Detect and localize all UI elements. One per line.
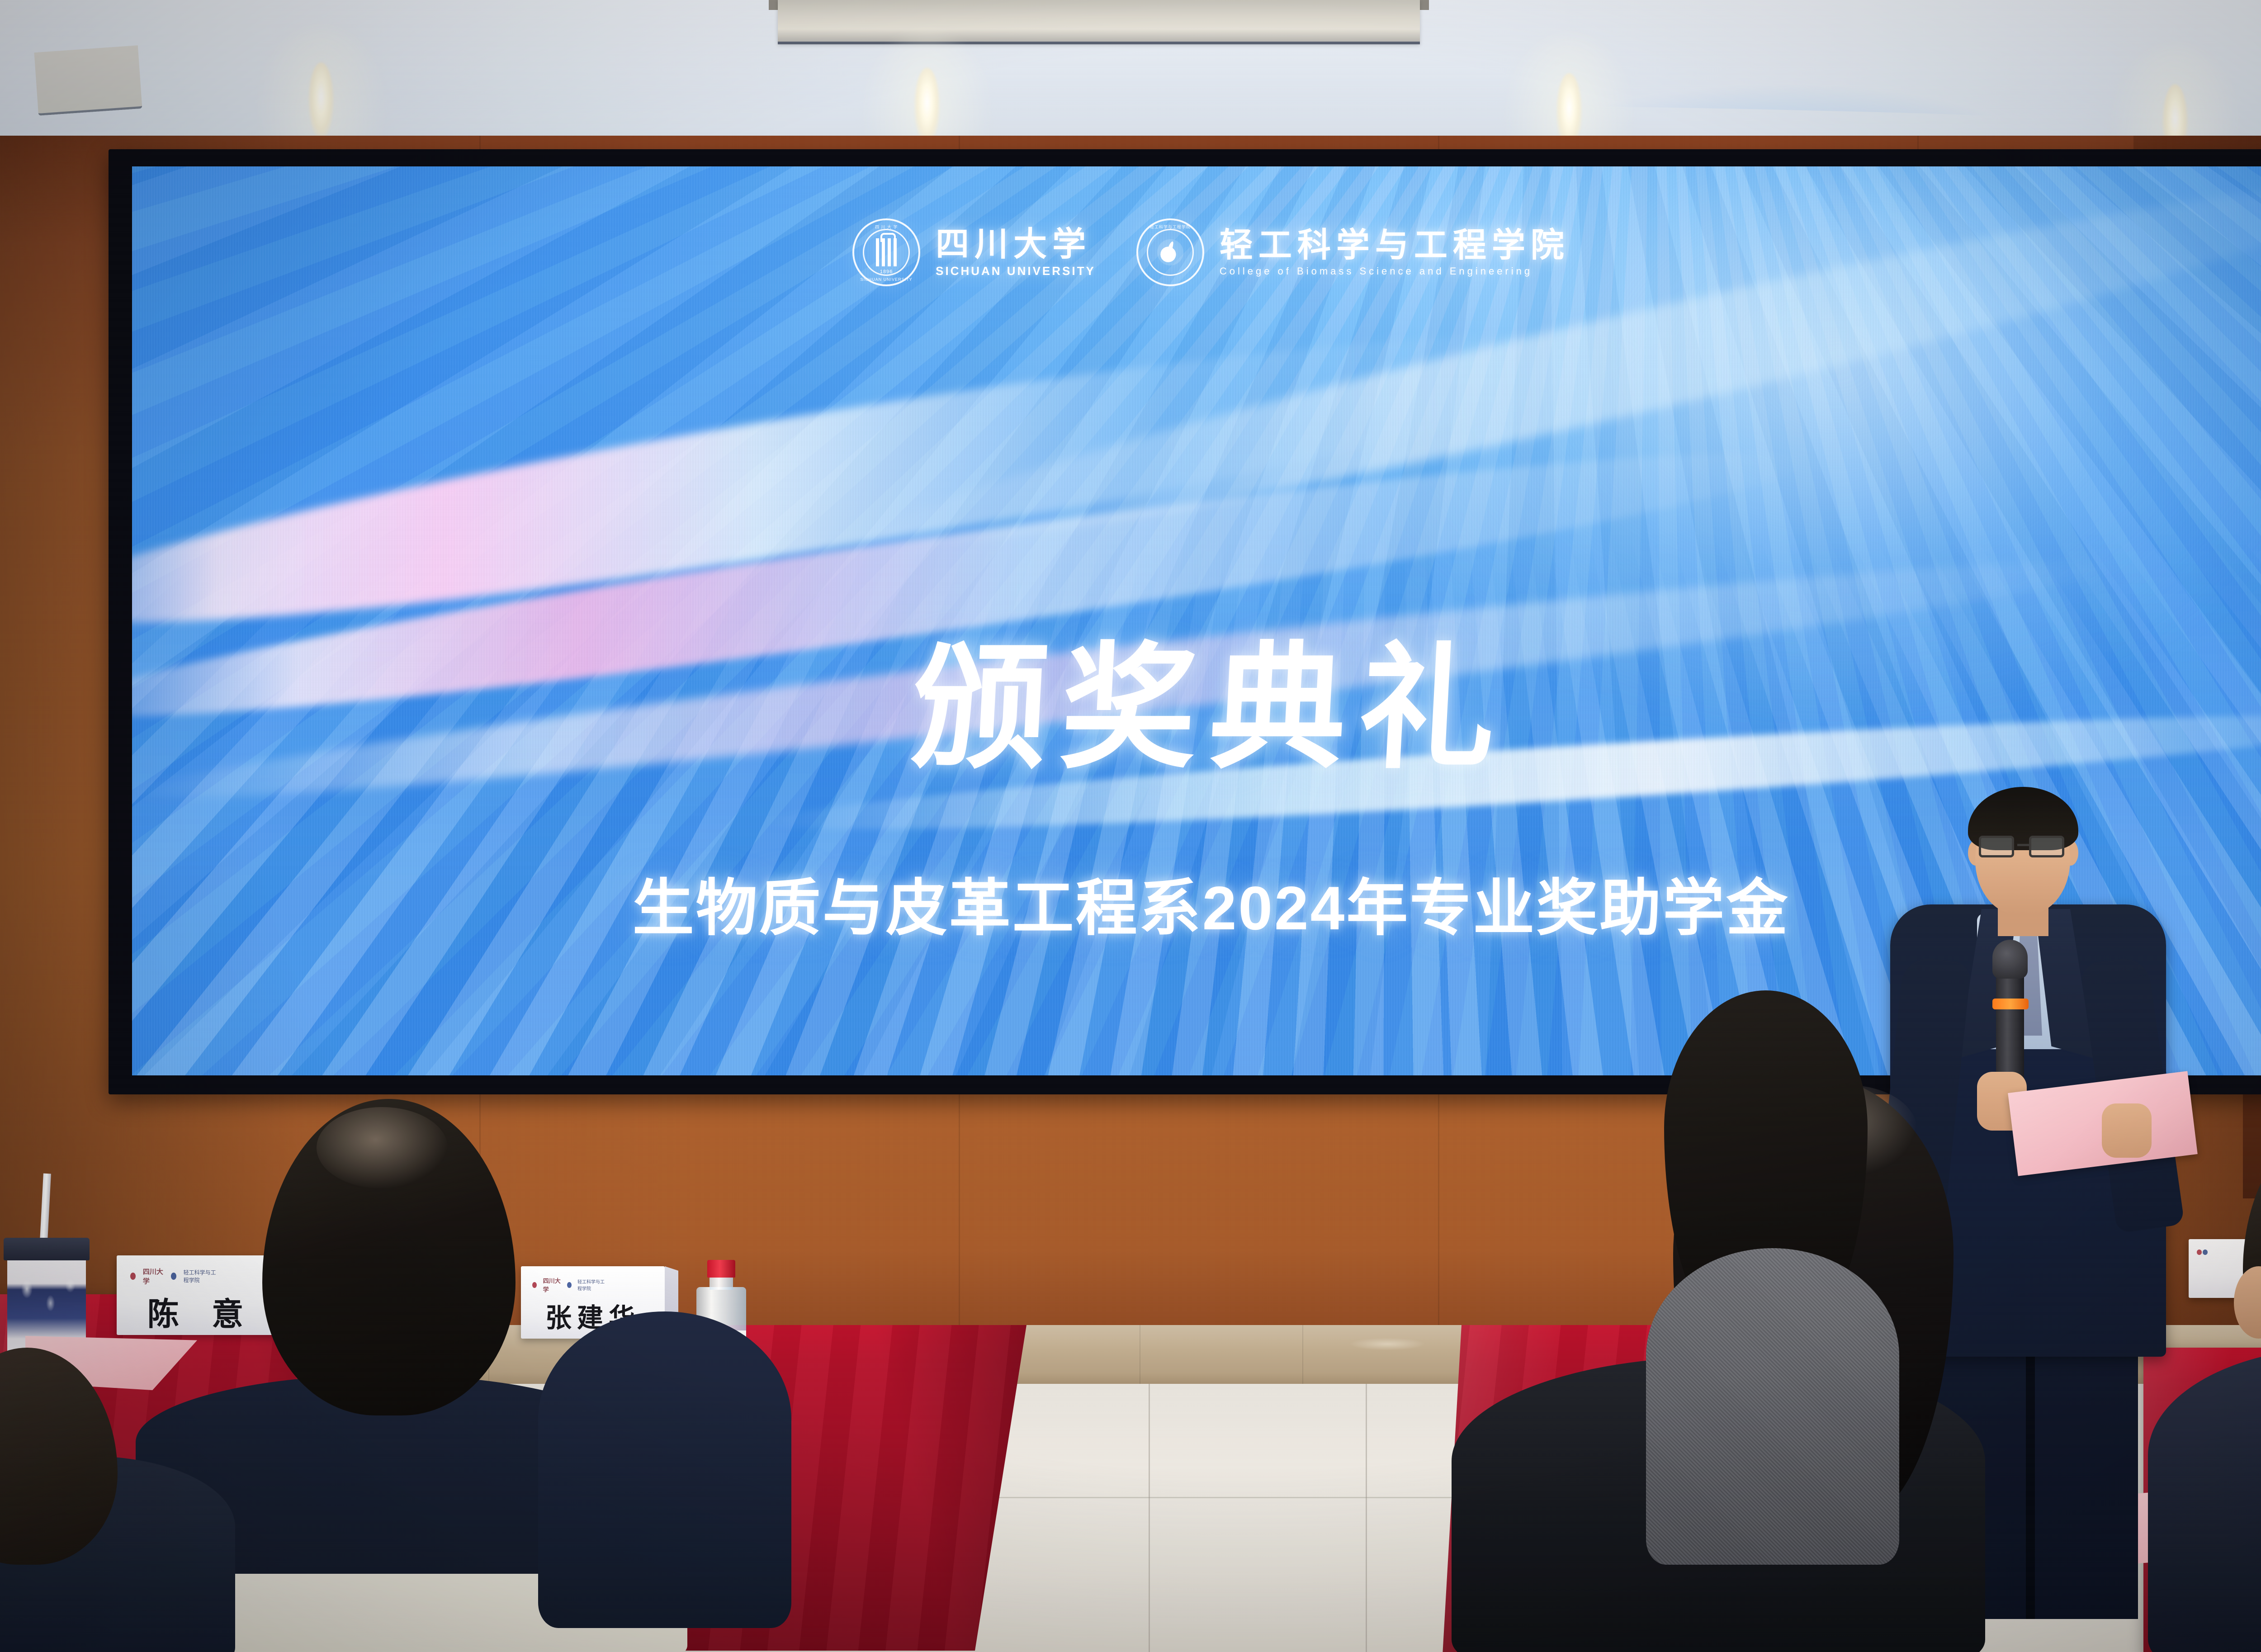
bottle-neck xyxy=(710,1276,733,1290)
ceiling xyxy=(0,0,2261,149)
ceiling-downlight-icon xyxy=(914,68,940,145)
college-mark-icon xyxy=(2203,1250,2208,1255)
grey-check-blazer xyxy=(1646,1248,1899,1565)
ceiling-downlight-icon xyxy=(308,62,334,139)
swan-icon xyxy=(1157,239,1183,265)
microphone-head-icon xyxy=(1992,940,2028,979)
sichuan-university-mark-icon xyxy=(2197,1250,2202,1255)
placard-logo-row xyxy=(2197,1250,2208,1255)
ceiling-vent-secondary-icon xyxy=(34,45,142,116)
sichuan-university-name-cn: 四川大学 xyxy=(936,227,1096,262)
cup-lid xyxy=(4,1238,90,1260)
name-placard-chen-yi: 四川大学 轻工科学与工程学院 陈 意 xyxy=(117,1255,285,1335)
bottle-cap xyxy=(707,1260,735,1278)
screen-logo-row: 四 川 大 学 1896 SICHUAN UNIVERSITY 四川大学 SIC… xyxy=(132,218,2261,286)
sichuan-university-logo: 四 川 大 学 1896 SICHUAN UNIVERSITY 四川大学 SIC… xyxy=(852,218,1096,286)
college-name-cn: 轻工科学与工程学院 xyxy=(1220,227,1570,263)
placard-logo-cn-2: 轻工科学与工程学院 xyxy=(577,1278,608,1292)
college-mark-icon xyxy=(171,1273,176,1280)
seal-arc-bottom-text: SICHUAN UNIVERSITY xyxy=(854,277,918,282)
sichuan-university-name-en: SICHUAN UNIVERSITY xyxy=(936,264,1096,278)
seal-arc-top-text: 四 川 大 学 xyxy=(854,224,918,230)
speaker-hand-right xyxy=(2102,1103,2152,1158)
college-mark-icon xyxy=(567,1282,572,1288)
navy-suit-back xyxy=(538,1311,791,1628)
eyeglasses-bridge-icon xyxy=(2017,844,2029,846)
placard-logo-row: 四川大学 轻工科学与工程学院 xyxy=(532,1276,608,1293)
college-logo: 轻工科学与工程学院 轻工科学与工程学院 College of Biomass S… xyxy=(1136,218,1570,286)
floor-tile-grout xyxy=(1149,1384,1150,1652)
sichuan-university-seal-icon: 四 川 大 学 1896 SICHUAN UNIVERSITY xyxy=(852,218,920,286)
placard-logo-cn-1: 四川大学 xyxy=(143,1267,164,1286)
microphone-accent-ring xyxy=(1992,999,2029,1009)
college-name-en: College of Biomass Science and Engineeri… xyxy=(1220,265,1570,277)
ceiling-air-vent-icon xyxy=(778,0,1420,44)
placard-logo-cn-1: 四川大学 xyxy=(543,1276,561,1293)
seal-year-text: 1896 xyxy=(854,269,918,275)
floor-tile-grout xyxy=(1366,1384,1367,1652)
placard-logo-cn-2: 轻工科学与工程学院 xyxy=(184,1269,221,1284)
audience-scalp-highlight xyxy=(317,1107,448,1188)
college-seal-inner-ring xyxy=(1147,229,1194,276)
college-seal-icon: 轻工科学与工程学院 xyxy=(1136,218,1204,286)
placard-name-text: 陈 意 xyxy=(117,1289,285,1335)
seal-tower-glyph xyxy=(876,238,897,266)
placard-logo-row: 四川大学 轻工科学与工程学院 xyxy=(130,1267,221,1286)
speaker-trouser-seam xyxy=(2026,1330,2035,1619)
conference-hall-scene: 四 川 大 学 1896 SICHUAN UNIVERSITY 四川大学 SIC… xyxy=(0,0,2261,1652)
college-seal-arc-text: 轻工科学与工程学院 xyxy=(1138,224,1202,230)
cup-pattern xyxy=(7,1263,86,1328)
sichuan-university-mark-icon xyxy=(532,1282,537,1288)
eyeglasses-right-lens-icon xyxy=(2029,836,2064,857)
ceremony-title: 颁奖典礼 xyxy=(132,598,2261,795)
eyeglasses-left-lens-icon xyxy=(1979,836,2014,857)
sichuan-university-mark-icon xyxy=(130,1273,136,1280)
